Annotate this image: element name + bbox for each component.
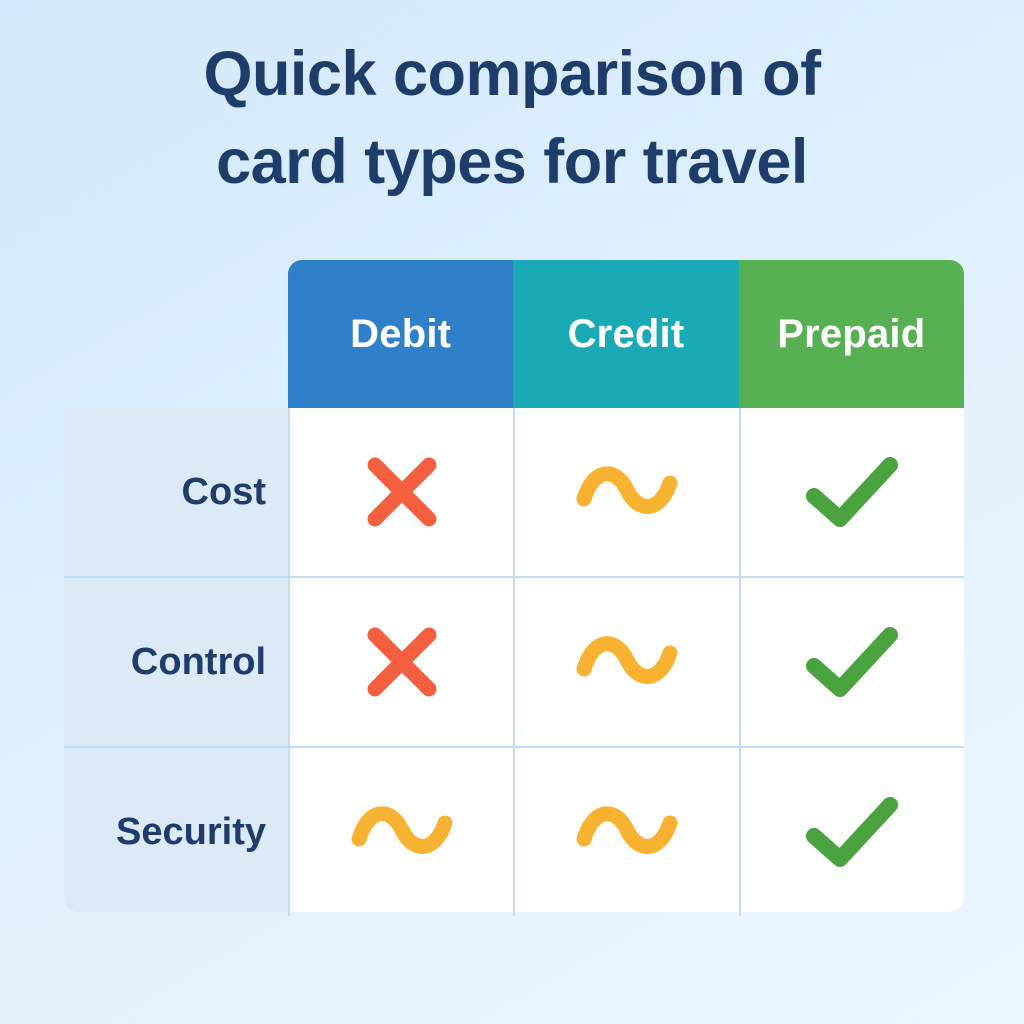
cell-control-debit xyxy=(288,578,513,746)
cross-icon xyxy=(359,449,445,535)
row-label-cost: Cost xyxy=(64,408,288,576)
row-label-security: Security xyxy=(64,748,288,916)
tilde-icon xyxy=(347,797,457,867)
cell-cost-prepaid xyxy=(739,408,964,576)
row-label-cost-text: Cost xyxy=(182,471,266,514)
column-header-prepaid: Prepaid xyxy=(739,260,964,408)
table-header-row: Debit Credit Prepaid xyxy=(288,260,964,408)
cell-control-credit xyxy=(513,578,738,746)
row-label-control-text: Control xyxy=(131,641,266,684)
check-icon xyxy=(800,792,904,872)
comparison-table: Debit Credit Prepaid Cost xyxy=(64,260,964,912)
cell-security-credit xyxy=(513,748,738,916)
check-icon xyxy=(800,622,904,702)
cell-control-prepaid xyxy=(739,578,964,746)
row-label-security-text: Security xyxy=(116,811,266,854)
page-title: Quick comparison of card types for trave… xyxy=(0,30,1024,206)
tilde-icon xyxy=(572,797,682,867)
page-title-line-1: Quick comparison of xyxy=(0,30,1024,118)
infographic-canvas: Quick comparison of card types for trave… xyxy=(0,0,1024,1024)
table-body: Cost xyxy=(64,408,964,912)
cell-cost-credit xyxy=(513,408,738,576)
table-row: Security xyxy=(64,746,964,916)
column-header-credit-label: Credit xyxy=(568,312,685,357)
cell-cost-debit xyxy=(288,408,513,576)
check-icon xyxy=(800,452,904,532)
table-row: Cost xyxy=(64,408,964,576)
cell-security-prepaid xyxy=(739,748,964,916)
tilde-icon xyxy=(572,457,682,527)
table-row: Control xyxy=(64,576,964,746)
column-header-debit: Debit xyxy=(288,260,513,408)
tilde-icon xyxy=(572,627,682,697)
column-header-debit-label: Debit xyxy=(350,312,451,357)
cell-security-debit xyxy=(288,748,513,916)
cross-icon xyxy=(359,619,445,705)
page-title-line-2: card types for travel xyxy=(0,118,1024,206)
row-label-control: Control xyxy=(64,578,288,746)
column-header-credit: Credit xyxy=(513,260,738,408)
column-header-prepaid-label: Prepaid xyxy=(777,312,925,357)
